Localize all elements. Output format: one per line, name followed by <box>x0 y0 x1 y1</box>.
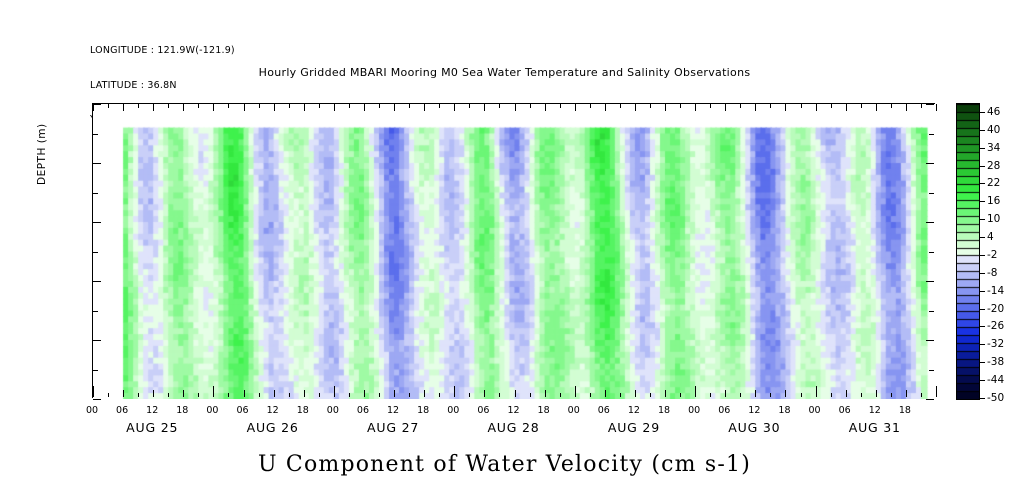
x-axis-tick <box>876 390 877 397</box>
colorbar-tick <box>979 183 985 184</box>
x-axis-hour-label: 00 <box>681 405 707 416</box>
latitude-text: LATITUDE : 36.8N <box>90 80 235 92</box>
x-axis-tick <box>755 104 756 111</box>
colorbar-tick <box>979 344 985 345</box>
y-axis-tick <box>926 222 934 223</box>
x-axis-hour-label: 12 <box>862 405 888 416</box>
x-axis-tick <box>831 104 832 108</box>
x-axis-tick <box>650 104 651 108</box>
x-axis-tick <box>936 104 937 111</box>
x-axis-tick <box>439 393 440 397</box>
x-axis-tick <box>439 104 440 108</box>
x-axis-tick <box>785 390 786 397</box>
x-axis-tick <box>846 390 847 397</box>
x-axis-hour-label: 00 <box>802 405 828 416</box>
x-axis-tick <box>394 104 395 111</box>
colorbar-label: 28 <box>987 160 1000 172</box>
y-axis-tick <box>929 311 934 312</box>
colorbar-label: -32 <box>987 338 1004 350</box>
x-axis-tick <box>394 390 395 397</box>
y-axis-tick <box>926 340 934 341</box>
x-axis-tick <box>228 393 229 397</box>
x-axis-tick <box>680 104 681 108</box>
x-axis-tick <box>770 393 771 397</box>
x-axis-tick <box>921 104 922 108</box>
x-axis-tick <box>891 104 892 108</box>
x-axis-hour-label: 12 <box>501 405 527 416</box>
x-axis-tick <box>921 393 922 397</box>
x-axis-tick <box>785 104 786 111</box>
colorbar-tick <box>979 166 985 167</box>
y-axis-tick <box>93 281 101 282</box>
x-axis-tick <box>635 104 636 111</box>
colorbar: 464034282216104-2-8-14-20-26-32-38-44-50 <box>956 103 978 398</box>
x-axis-tick <box>560 393 561 397</box>
x-axis-hour-label: 18 <box>651 405 677 416</box>
x-axis-day-tick <box>213 386 214 397</box>
colorbar-label: -26 <box>987 320 1004 332</box>
x-axis-day-tick <box>454 386 455 397</box>
x-axis-tick <box>93 104 94 111</box>
x-axis-tick <box>484 390 485 397</box>
x-axis-hour-label: 06 <box>109 405 135 416</box>
x-axis-tick <box>740 104 741 108</box>
x-axis-tick <box>635 390 636 397</box>
x-axis-tick <box>274 390 275 397</box>
x-axis-tick <box>755 390 756 397</box>
y-axis-tick <box>93 163 101 164</box>
x-axis-tick <box>138 104 139 108</box>
y-axis-tick <box>93 193 98 194</box>
x-axis-tick <box>605 104 606 111</box>
x-axis-tick <box>198 393 199 397</box>
x-axis-tick <box>590 393 591 397</box>
y-axis-tick <box>926 104 934 105</box>
x-axis-hour-label: 18 <box>410 405 436 416</box>
x-axis-hour-label: 12 <box>741 405 767 416</box>
colorbar-label: 40 <box>987 124 1000 136</box>
x-axis-day-label: AUG 30 <box>709 420 799 435</box>
y-axis-tick <box>926 163 934 164</box>
x-axis-day-tick <box>334 386 335 397</box>
x-axis-tick <box>590 104 591 108</box>
x-axis-hour-label: 06 <box>591 405 617 416</box>
y-axis-tick <box>93 222 101 223</box>
plot-area <box>92 103 935 398</box>
x-axis-tick <box>259 393 260 397</box>
x-axis-tick <box>545 390 546 397</box>
x-axis-tick <box>108 104 109 108</box>
colorbar-label: 4 <box>987 231 994 243</box>
x-axis-tick <box>213 104 214 111</box>
x-axis-tick <box>740 393 741 397</box>
x-axis-tick <box>469 393 470 397</box>
x-axis-tick <box>560 104 561 108</box>
y-axis-tick <box>929 370 934 371</box>
x-axis-tick <box>499 393 500 397</box>
x-axis-tick <box>244 104 245 111</box>
y-axis-tick <box>929 134 934 135</box>
x-axis-tick <box>349 393 350 397</box>
colorbar-label: -2 <box>987 249 997 261</box>
colorbar-label: 34 <box>987 142 1000 154</box>
x-axis-tick <box>349 104 350 108</box>
x-axis-tick <box>319 393 320 397</box>
x-axis-hour-label: 00 <box>199 405 225 416</box>
y-axis-tick <box>93 134 98 135</box>
x-axis-day-tick <box>816 386 817 397</box>
x-axis-tick <box>138 393 139 397</box>
x-axis-hour-label: 12 <box>621 405 647 416</box>
y-axis-tick <box>926 399 934 400</box>
colorbar-tick <box>979 291 985 292</box>
x-axis-tick <box>695 104 696 111</box>
colorbar-tick <box>979 255 985 256</box>
y-axis-tick <box>93 370 98 371</box>
y-axis-tick <box>929 193 934 194</box>
x-axis-tick <box>123 390 124 397</box>
colorbar-label: 16 <box>987 195 1000 207</box>
x-axis-hour-label: 18 <box>169 405 195 416</box>
y-axis-tick <box>93 311 98 312</box>
colorbar-label: -50 <box>987 392 1004 404</box>
x-axis-tick <box>725 390 726 397</box>
colorbar-tick <box>979 237 985 238</box>
x-axis-tick <box>379 104 380 108</box>
x-axis-hour-label: 00 <box>79 405 105 416</box>
x-axis-tick <box>831 393 832 397</box>
x-axis-hour-label: 12 <box>380 405 406 416</box>
x-axis-tick <box>108 393 109 397</box>
x-axis-tick <box>183 390 184 397</box>
x-axis-tick <box>725 104 726 111</box>
x-axis-tick <box>605 390 606 397</box>
x-axis-tick <box>665 104 666 111</box>
x-axis-tick <box>319 104 320 108</box>
x-axis-hour-label: 18 <box>531 405 557 416</box>
colorbar-gradient <box>956 103 980 400</box>
x-axis-tick <box>409 104 410 108</box>
x-axis-tick <box>665 390 666 397</box>
x-axis-tick <box>499 104 500 108</box>
colorbar-label: 46 <box>987 106 1000 118</box>
colorbar-tick <box>979 201 985 202</box>
x-axis-tick <box>364 104 365 111</box>
x-axis-day-label: AUG 25 <box>107 420 197 435</box>
colorbar-tick <box>979 130 985 131</box>
y-axis-tick <box>93 340 101 341</box>
x-axis-tick <box>123 104 124 111</box>
x-axis-tick <box>379 393 380 397</box>
x-axis-day-tick <box>575 386 576 397</box>
x-axis-tick <box>259 104 260 108</box>
x-axis-tick <box>289 393 290 397</box>
x-axis-tick <box>861 104 862 108</box>
x-axis-tick <box>816 104 817 111</box>
x-axis-tick <box>274 104 275 111</box>
x-axis-tick <box>153 104 154 111</box>
x-axis-tick <box>620 393 621 397</box>
x-axis-hour-label: 06 <box>350 405 376 416</box>
x-axis-tick <box>545 104 546 111</box>
x-axis-hour-label: 00 <box>320 405 346 416</box>
x-axis-tick <box>469 104 470 108</box>
chart-caption: U Component of Water Velocity (cm s-1) <box>0 452 1009 477</box>
x-axis-day-tick <box>695 386 696 397</box>
y-axis-tick <box>93 399 101 400</box>
colorbar-tick <box>979 112 985 113</box>
x-axis-tick <box>454 104 455 111</box>
x-axis-tick <box>183 104 184 111</box>
x-axis-day-label: AUG 29 <box>589 420 679 435</box>
x-axis-day-label: AUG 28 <box>469 420 559 435</box>
x-axis-tick <box>515 390 516 397</box>
x-axis-hour-label: 00 <box>440 405 466 416</box>
x-axis-tick <box>484 104 485 111</box>
x-axis-hour-label: 06 <box>470 405 496 416</box>
x-axis-tick <box>801 393 802 397</box>
x-axis-tick <box>906 104 907 111</box>
colorbar-label: -8 <box>987 267 997 279</box>
x-axis-tick <box>244 390 245 397</box>
x-axis-tick <box>289 104 290 108</box>
x-axis-tick <box>334 104 335 111</box>
x-axis-hour-label: 18 <box>771 405 797 416</box>
x-axis-tick <box>168 393 169 397</box>
x-axis-tick <box>530 393 531 397</box>
x-axis-hour-label: 00 <box>561 405 587 416</box>
x-axis-day-tick <box>936 386 937 397</box>
x-axis-day-label: AUG 26 <box>228 420 318 435</box>
x-axis-tick <box>304 390 305 397</box>
x-axis-tick <box>530 104 531 108</box>
colorbar-label: -44 <box>987 374 1004 386</box>
x-axis-hour-label: 12 <box>260 405 286 416</box>
x-axis-hour-label: 06 <box>832 405 858 416</box>
x-axis-tick <box>198 104 199 108</box>
colorbar-tick <box>979 219 985 220</box>
x-axis-tick <box>680 393 681 397</box>
colorbar-label: -38 <box>987 356 1004 368</box>
colorbar-tick <box>979 309 985 310</box>
x-axis-day-label: AUG 31 <box>830 420 920 435</box>
x-axis-tick <box>409 393 410 397</box>
colorbar-tick <box>979 398 985 399</box>
x-axis-tick <box>228 104 229 108</box>
x-axis-day-label: AUG 27 <box>348 420 438 435</box>
page-title: Hourly Gridded MBARI Mooring M0 Sea Wate… <box>0 66 1009 79</box>
x-axis-hour-label: 06 <box>711 405 737 416</box>
colorbar-tick <box>979 362 985 363</box>
colorbar-label: 22 <box>987 177 1000 189</box>
colorbar-tick <box>979 326 985 327</box>
x-axis-tick <box>515 104 516 111</box>
longitude-text: LONGITUDE : 121.9W(-121.9) <box>90 45 235 57</box>
x-axis-tick <box>650 393 651 397</box>
x-axis-tick <box>304 104 305 111</box>
x-axis-hour-label: 06 <box>230 405 256 416</box>
colorbar-tick <box>979 273 985 274</box>
x-axis-tick <box>861 393 862 397</box>
x-axis-tick <box>801 104 802 108</box>
x-axis-tick <box>424 390 425 397</box>
x-axis-hour-label: 12 <box>139 405 165 416</box>
colorbar-label: -20 <box>987 303 1004 315</box>
colorbar-label: -14 <box>987 285 1004 297</box>
x-axis-tick <box>770 104 771 108</box>
x-axis-day-tick <box>93 386 94 397</box>
colorbar-tick <box>979 380 985 381</box>
x-axis-hour-label: 18 <box>290 405 316 416</box>
velocity-heatmap <box>93 104 936 399</box>
x-axis-tick <box>364 390 365 397</box>
y-axis-title: DEPTH (m) <box>36 123 48 185</box>
y-axis-tick <box>93 104 101 105</box>
y-axis-tick <box>926 281 934 282</box>
x-axis-tick <box>153 390 154 397</box>
x-axis-tick <box>710 104 711 108</box>
x-axis-hour-label: 18 <box>892 405 918 416</box>
x-axis-tick <box>876 104 877 111</box>
x-axis-tick <box>846 104 847 111</box>
x-axis-tick <box>575 104 576 111</box>
x-axis-tick <box>906 390 907 397</box>
x-axis-tick <box>424 104 425 111</box>
x-axis-tick <box>891 393 892 397</box>
y-axis-tick <box>93 252 98 253</box>
x-axis-tick <box>710 393 711 397</box>
x-axis-tick <box>168 104 169 108</box>
colorbar-label: 10 <box>987 213 1000 225</box>
x-axis-tick <box>620 104 621 108</box>
colorbar-tick <box>979 148 985 149</box>
y-axis-tick <box>929 252 934 253</box>
